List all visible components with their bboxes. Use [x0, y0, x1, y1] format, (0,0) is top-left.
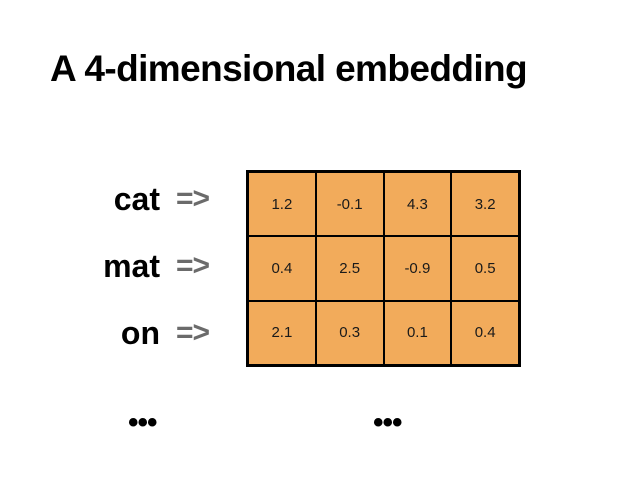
embedding-illustration: cat => mat => on => 1.2 -0.1 4.3 3.2 0.4 [0, 165, 638, 375]
word-label-cat: cat [114, 183, 160, 215]
matrix-cell-0-1: -0.1 [317, 173, 385, 235]
word-row-cat: cat => [0, 165, 232, 232]
table-row: 0.4 2.5 -0.9 0.5 [249, 237, 518, 301]
ellipsis-words: ••• [128, 408, 157, 438]
matrix-cell-1-2: -0.9 [385, 237, 453, 299]
matrix-cell-0-0: 1.2 [249, 173, 317, 235]
matrix-cell-1-3: 0.5 [452, 237, 518, 299]
arrow-icon-cat: => [176, 184, 224, 214]
word-label-on: on [121, 317, 160, 349]
matrix-cell-1-1: 2.5 [317, 237, 385, 299]
arrow-icon-on: => [176, 318, 224, 348]
word-label-column: cat => mat => on => [0, 165, 232, 367]
word-row-on: on => [0, 300, 232, 367]
arrow-icon-mat: => [176, 251, 224, 281]
matrix-cell-0-2: 4.3 [385, 173, 453, 235]
word-label-mat: mat [103, 250, 160, 282]
table-row: 2.1 0.3 0.1 0.4 [249, 302, 518, 364]
ellipsis-matrix: ••• [373, 408, 402, 438]
embedding-matrix: 1.2 -0.1 4.3 3.2 0.4 2.5 -0.9 0.5 2.1 0.… [246, 170, 521, 367]
table-row: 1.2 -0.1 4.3 3.2 [249, 173, 518, 237]
matrix-cell-2-0: 2.1 [249, 302, 317, 364]
matrix-cell-1-0: 0.4 [249, 237, 317, 299]
matrix-cell-0-3: 3.2 [452, 173, 518, 235]
matrix-cell-2-2: 0.1 [385, 302, 453, 364]
slide-canvas: A 4-dimensional embedding cat => mat => … [0, 0, 638, 484]
word-row-mat: mat => [0, 232, 232, 299]
matrix-cell-2-1: 0.3 [317, 302, 385, 364]
page-title: A 4-dimensional embedding [50, 48, 527, 91]
matrix-cell-2-3: 0.4 [452, 302, 518, 364]
